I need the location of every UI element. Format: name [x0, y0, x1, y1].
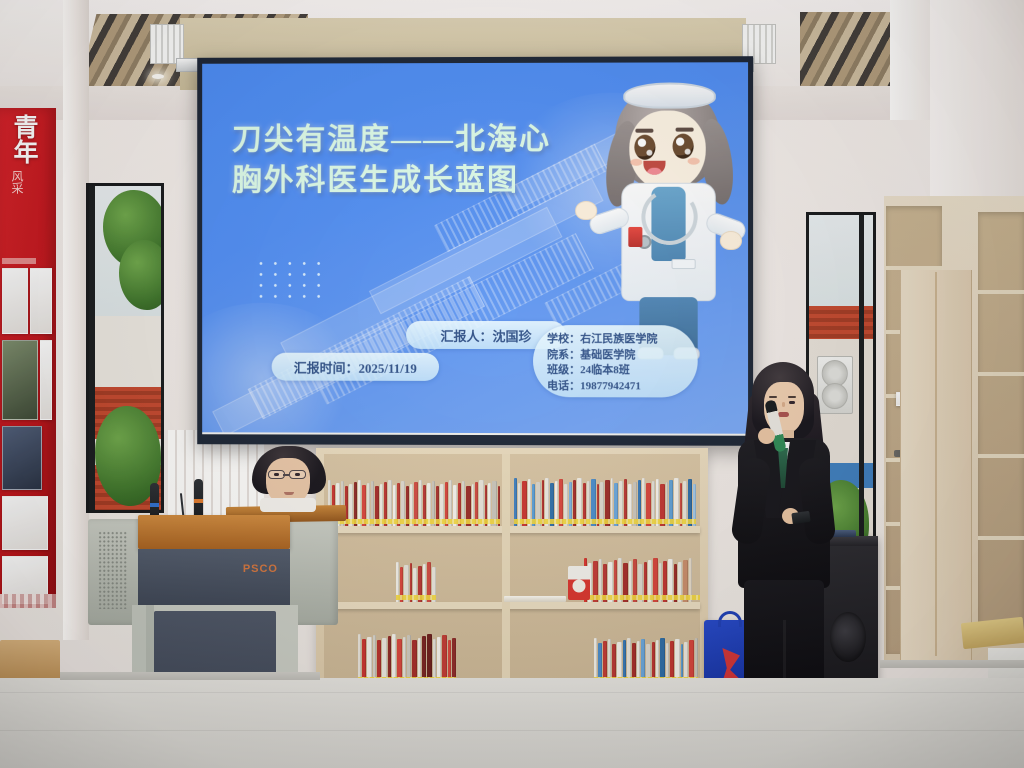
- info-school-label: 学校：: [547, 333, 580, 345]
- info-phone-label: 电话：: [547, 380, 580, 392]
- lectern-front-panel: PSCO: [138, 549, 290, 605]
- baseboard: [60, 672, 320, 680]
- flat-paper-on-shelf: [504, 596, 566, 602]
- info-class-value: 24临本8班: [580, 364, 630, 376]
- book-label-strip: [396, 595, 436, 600]
- wall-pillar-right: [890, 0, 934, 120]
- bulletin-poster: [30, 268, 52, 334]
- projection-screen: 刀尖有温度——北海心 胸外科医生成长蓝图: [197, 56, 753, 446]
- lectern-speaker-grille: [98, 531, 128, 609]
- open-shelving-niche-far: [978, 212, 1024, 642]
- bulletin-board-skirt: [0, 594, 56, 608]
- info-school-value: 右江民族医学院: [580, 333, 657, 345]
- info-phone-value: 19877942471: [580, 380, 641, 392]
- bulletin-photo: [2, 340, 38, 420]
- lectern-brand-label: PSCO: [243, 563, 278, 575]
- presenter-hand-holding-mic: [758, 428, 775, 444]
- book-label-strip: [584, 595, 700, 600]
- presentation-slide: 刀尖有温度——北海心 胸外科医生成长蓝图: [202, 62, 748, 436]
- book-row: [594, 636, 698, 684]
- wall-column-right: [930, 0, 1024, 210]
- cabinet-door-seam: [935, 272, 937, 656]
- slide-dot-grid-decoration: [254, 258, 328, 306]
- baseboard: [880, 660, 1024, 668]
- book-row: [396, 560, 436, 602]
- bookcase: [316, 448, 708, 704]
- book-label-strip: [328, 519, 500, 524]
- doctor-id-badge: [628, 227, 642, 247]
- doctor-coat-pocket: [672, 259, 696, 269]
- book-label-strip: [514, 519, 696, 524]
- doctor-hand-left: [575, 201, 597, 220]
- lectern-wood-top: [138, 515, 290, 549]
- doctor-eye: [673, 134, 694, 159]
- operator-collar: [260, 498, 316, 512]
- info-class-label: 班级：: [547, 364, 580, 376]
- bulletin-board-title: 青年: [2, 114, 36, 164]
- window-left: [86, 183, 164, 513]
- slide-title-line2: 胸外科医生成长蓝图: [232, 160, 651, 202]
- seated-operator: [252, 446, 326, 508]
- youth-bulletin-board: 青年 风采: [0, 108, 56, 608]
- bulletin-board-subtitle: 风采: [4, 170, 26, 194]
- book-row: [584, 556, 700, 602]
- floor: [0, 678, 1024, 768]
- doctor-hand-right: [720, 231, 742, 250]
- info-dept-label: 院系：: [547, 349, 580, 361]
- red-book-package: [568, 566, 590, 600]
- doctor-eye: [634, 135, 655, 160]
- slide-title-line1: 刀尖有温度——北海心: [232, 119, 651, 161]
- book-row: [328, 478, 500, 526]
- cartoon-doctor-illustration: [593, 74, 744, 365]
- ceiling-downlight: [152, 74, 164, 79]
- photo-scene: 青年 风采: [0, 0, 1024, 768]
- book-row: [514, 476, 696, 526]
- bulletin-photo: [2, 426, 42, 490]
- slide-info-pill: 学校：右江民族医学院 院系：基础医学院 班级：24临本8班 电话：1987794…: [533, 325, 698, 397]
- info-dept-value: 基础医学院: [580, 349, 635, 361]
- book-row: [358, 632, 456, 684]
- slide-title: 刀尖有温度——北海心 胸外科医生成长蓝图: [232, 119, 651, 202]
- doctor-headband-icon: [623, 82, 716, 108]
- slide-date-pill: 汇报时间：2025/11/19: [272, 353, 439, 381]
- doctor-smile: [643, 161, 665, 175]
- bulletin-poster: [2, 268, 28, 334]
- bulletin-poster: [2, 496, 48, 550]
- bulletin-poster: [40, 340, 52, 420]
